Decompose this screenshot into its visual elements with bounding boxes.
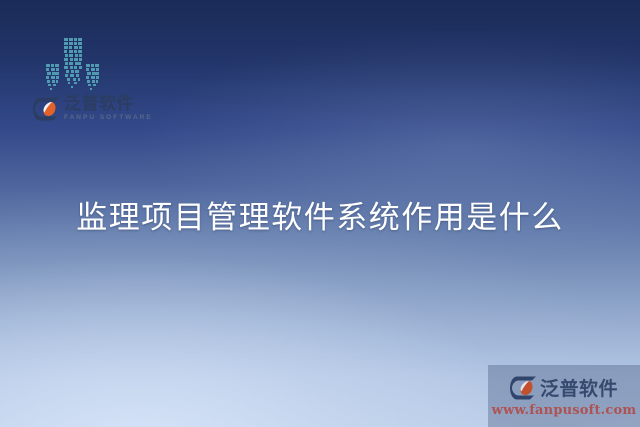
slide-canvas: 泛普软件 FANPU SOFTWARE 监理项目管理软件系统作用是什么 泛普软件… [0,0,640,427]
watermark-brand-name: 泛普软件 [540,374,618,401]
watermark-panel: 泛普软件 www.fanpusoft.com [488,365,640,427]
brand-name-en: FANPU SOFTWARE [64,115,153,122]
fanpu-logo-mark-icon [33,97,59,121]
fanpu-logo-mark-icon [510,376,536,400]
page-title: 监理项目管理软件系统作用是什么 [0,192,640,237]
watermark-lockup: 泛普软件 [510,374,618,401]
brand-name-cn: 泛普软件 [64,96,153,113]
brand-lockup-primary: 泛普软件 FANPU SOFTWARE [33,96,153,122]
watermark-url: www.fanpusoft.com [492,403,637,418]
brand-text-block: 泛普软件 FANPU SOFTWARE [64,96,153,122]
pixel-cityscape-graphic [44,34,102,90]
